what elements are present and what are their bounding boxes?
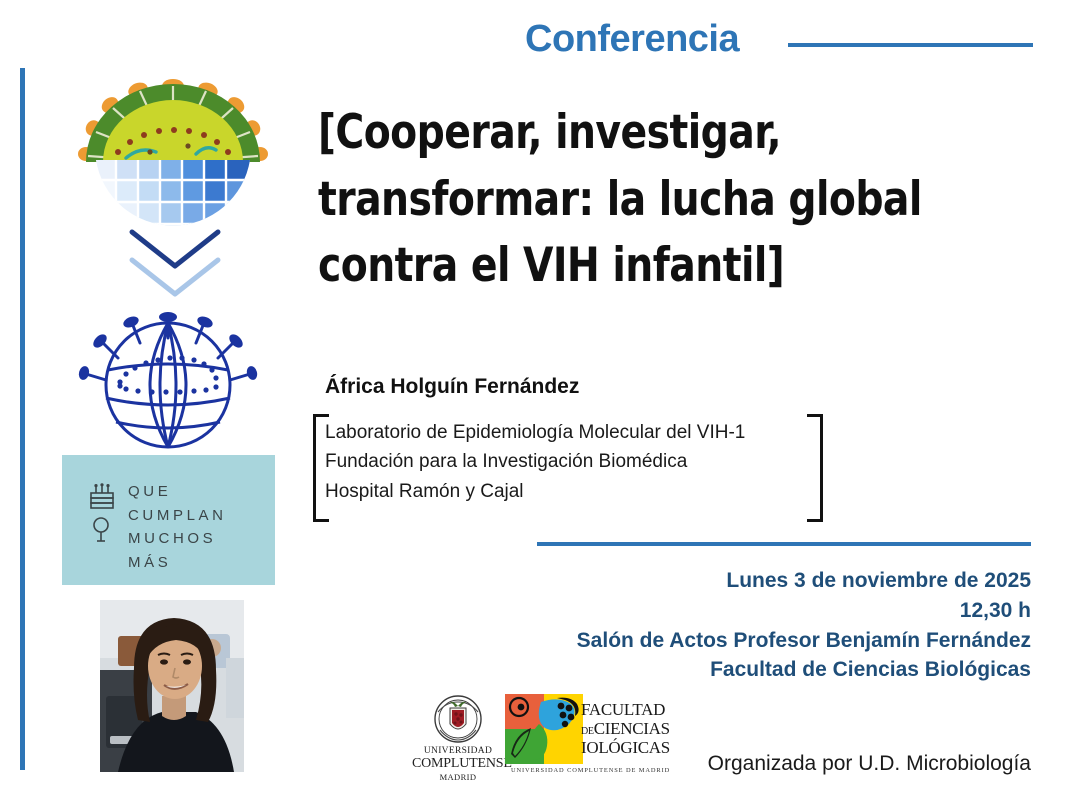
bio-ciencias: CIENCIAS xyxy=(594,719,670,738)
bio-de: DE xyxy=(581,726,594,737)
cumplan-icons xyxy=(89,483,119,545)
virus-globe-icon xyxy=(68,72,278,242)
ucm-logo-text: UNIVERSIDAD COMPLUTENSE MADRID xyxy=(412,746,504,782)
bracket-right-icon xyxy=(807,414,823,522)
blue-virus-globe-icon xyxy=(68,308,268,453)
bio-line-1: FACULTAD xyxy=(581,700,697,719)
ucm-crest-icon xyxy=(428,694,488,746)
bio-line-2: DECIENCIAS xyxy=(581,719,697,738)
facultad-biologicas-tagline: UNIVERSIDAD COMPLUTENSE DE MADRID xyxy=(511,767,695,774)
header-rule xyxy=(788,43,1033,47)
facultad-biologicas-logo: FACULTAD DECIENCIAS IOLÓGICAS UNIVERSIDA… xyxy=(505,694,695,780)
cumplan-text: QUE CUMPLAN MUCHOS MÁS xyxy=(128,480,227,575)
speaker-name: África Holguín Fernández xyxy=(325,375,579,399)
affiliation-block: Laboratorio de Epidemiología Molecular d… xyxy=(313,414,823,522)
event-details: Lunes 3 de noviembre de 2025 12,30 h Sal… xyxy=(431,566,1031,685)
details-rule xyxy=(537,542,1031,546)
affiliation-line: Laboratorio de Epidemiología Molecular d… xyxy=(325,418,745,447)
event-faculty: Facultad de Ciencias Biológicas xyxy=(431,655,1031,685)
left-accent-rule xyxy=(20,68,25,770)
facultad-biologicas-text: FACULTAD DECIENCIAS IOLÓGICAS xyxy=(581,700,697,757)
double-chevron-down-icon xyxy=(120,222,230,302)
speaker-portrait xyxy=(100,600,244,772)
event-date: Lunes 3 de noviembre de 2025 xyxy=(431,566,1031,596)
poster-title: [Cooperar, investigar, transformar: la l… xyxy=(318,100,978,300)
organizer-text: Organizada por U.D. Microbiología xyxy=(708,752,1031,776)
cumplan-line: QUE xyxy=(128,480,227,504)
cumplan-line: MÁS xyxy=(128,551,227,575)
conference-label: Conferencia xyxy=(525,18,739,61)
cumplan-line: CUMPLAN xyxy=(128,504,227,528)
ucm-line-1: UNIVERSIDAD xyxy=(412,746,504,756)
bio-line-3: IOLÓGICAS xyxy=(581,738,697,757)
poster-header: Conferencia xyxy=(500,18,1045,70)
cumplan-panel: QUE CUMPLAN MUCHOS MÁS xyxy=(62,455,275,585)
affiliation-line: Hospital Ramón y Cajal xyxy=(325,477,745,506)
ucm-logo: UNIVERSIDAD COMPLUTENSE MADRID xyxy=(412,694,504,782)
event-time: 12,30 h xyxy=(431,596,1031,626)
ucm-line-2: COMPLUTENSE xyxy=(412,756,504,772)
cumplan-line: MUCHOS xyxy=(128,527,227,551)
affiliation-line: Fundación para la Investigación Biomédic… xyxy=(325,447,745,476)
facultad-biologicas-mark-icon xyxy=(505,694,583,764)
event-venue: Salón de Actos Profesor Benjamín Fernánd… xyxy=(431,626,1031,656)
affiliation-lines: Laboratorio de Epidemiología Molecular d… xyxy=(325,418,745,506)
ucm-line-3: MADRID xyxy=(412,772,504,782)
